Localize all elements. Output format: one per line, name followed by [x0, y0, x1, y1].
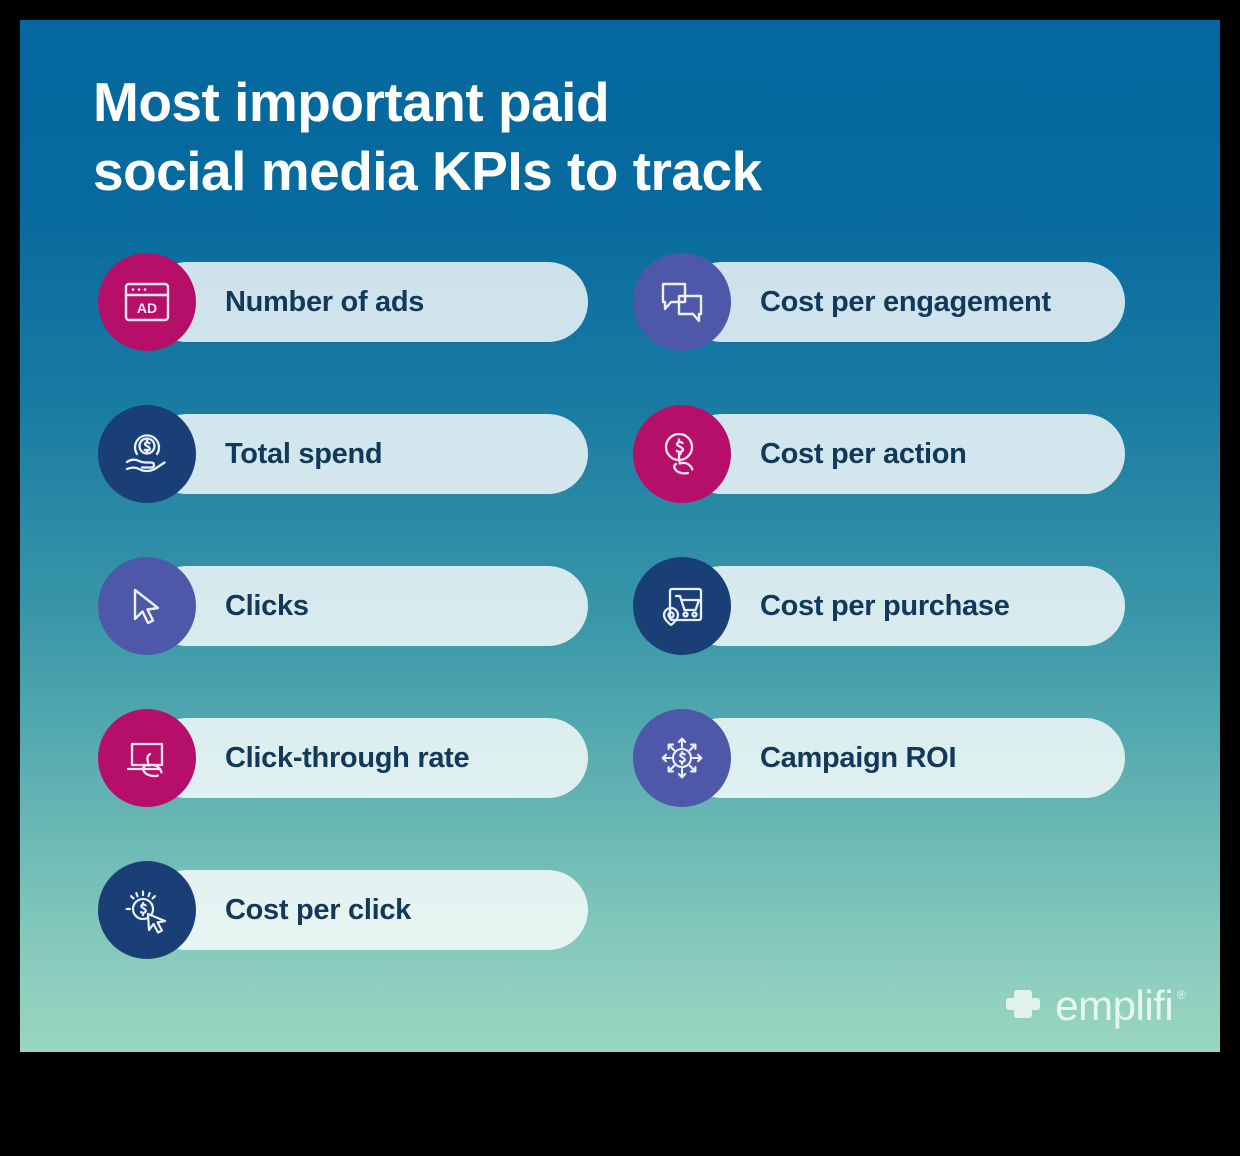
infographic-poster: Most important paid social media KPIs to…: [20, 20, 1220, 1052]
kpi-label: Clicks: [225, 590, 309, 623]
kpi-pill[interactable]: Clicks: [147, 566, 588, 646]
kpi-item-cost-per-action[interactable]: Cost per action: [633, 405, 1125, 503]
kpi-pill[interactable]: Click-through rate: [147, 718, 588, 798]
kpi-label: Total spend: [225, 438, 382, 471]
cart-pin-icon: [633, 557, 731, 655]
page-title-line-1: Most important paid: [93, 68, 993, 137]
screenshot-canvas: Most important paid social media KPIs to…: [0, 0, 1240, 1156]
kpi-row: Clicks Cos: [20, 557, 1220, 709]
emplifi-logo: emplifi ®: [1003, 982, 1186, 1030]
kpi-label: Number of ads: [225, 286, 424, 319]
kpi-pill[interactable]: Cost per action: [682, 414, 1125, 494]
page-title-line-2: social media KPIs to track: [93, 137, 993, 206]
kpi-pill[interactable]: Cost per engagement: [682, 262, 1125, 342]
kpi-pill[interactable]: Number of ads: [147, 262, 588, 342]
kpi-item-number-of-ads[interactable]: AD Number of ads: [98, 253, 588, 351]
cursor-arrow-icon: [98, 557, 196, 655]
speech-bubbles-icon: [633, 253, 731, 351]
kpi-item-clicks[interactable]: Clicks: [98, 557, 588, 655]
coin-tap-icon: [633, 405, 731, 503]
kpi-label: Cost per engagement: [760, 286, 1051, 319]
plus-cross-icon: [1003, 984, 1043, 1029]
kpi-item-total-spend[interactable]: Total spend: [98, 405, 588, 503]
coin-arrows-icon: [633, 709, 731, 807]
kpi-item-click-through-rate[interactable]: Click-through rate: [98, 709, 588, 807]
kpi-grid: AD Number of ads Cost p: [20, 253, 1220, 1013]
kpi-row: Click-through rate: [20, 709, 1220, 861]
kpi-label: Cost per action: [760, 438, 967, 471]
kpi-label: Campaign ROI: [760, 742, 956, 775]
kpi-pill[interactable]: Cost per purchase: [682, 566, 1125, 646]
coin-cursor-icon: [98, 861, 196, 959]
browser-ad-icon: AD: [98, 253, 196, 351]
kpi-pill[interactable]: Campaign ROI: [682, 718, 1125, 798]
kpi-pill[interactable]: Cost per click: [147, 870, 588, 950]
kpi-item-campaign-roi[interactable]: Campaign ROI: [633, 709, 1125, 807]
hand-holding-coin-icon: [98, 405, 196, 503]
page-title: Most important paid social media KPIs to…: [93, 68, 993, 206]
kpi-row: AD Number of ads Cost p: [20, 253, 1220, 405]
kpi-pill[interactable]: Total spend: [147, 414, 588, 494]
kpi-item-cost-per-purchase[interactable]: Cost per purchase: [633, 557, 1125, 655]
kpi-label: Click-through rate: [225, 742, 469, 775]
trademark-symbol: ®: [1177, 988, 1186, 1002]
kpi-item-cost-per-engagement[interactable]: Cost per engagement: [633, 253, 1125, 351]
kpi-label: Cost per click: [225, 894, 411, 927]
kpi-item-cost-per-click[interactable]: Cost per click: [98, 861, 588, 959]
laptop-tap-icon: [98, 709, 196, 807]
kpi-label: Cost per purchase: [760, 590, 1010, 623]
kpi-row: Total spend: [20, 405, 1220, 557]
svg-text:AD: AD: [137, 300, 157, 316]
emplifi-wordmark: emplifi: [1055, 982, 1173, 1030]
